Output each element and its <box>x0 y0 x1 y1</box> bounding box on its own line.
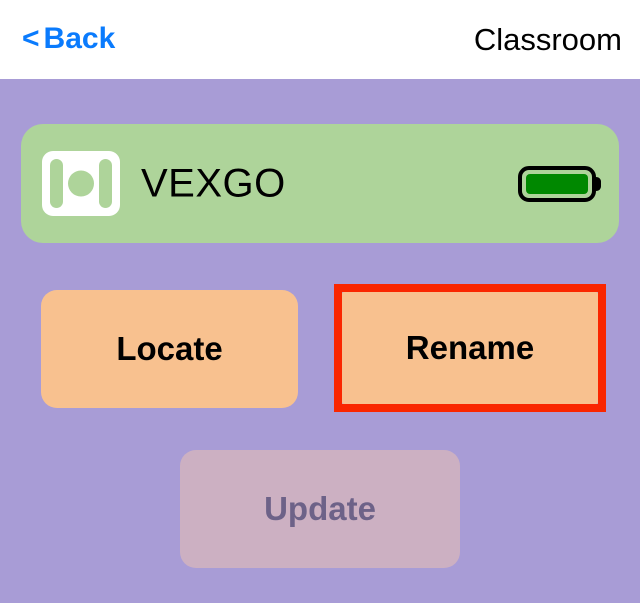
page-title: Classroom <box>474 23 622 57</box>
device-detail-screen: < Back Classroom VEXGO Locate Rename <box>0 0 640 603</box>
vex-brain-icon <box>41 150 121 217</box>
device-card[interactable]: VEXGO <box>21 124 619 243</box>
chevron-left-icon: < <box>22 24 40 54</box>
rename-button[interactable]: Rename <box>342 292 598 404</box>
locate-button[interactable]: Locate <box>41 290 298 408</box>
device-name-label: VEXGO <box>141 161 286 206</box>
battery-full-icon <box>518 166 602 202</box>
update-button: Update <box>180 450 460 568</box>
nav-bar: < Back Classroom <box>0 0 640 79</box>
back-button[interactable]: < Back <box>22 24 115 54</box>
back-button-label: Back <box>44 24 116 54</box>
